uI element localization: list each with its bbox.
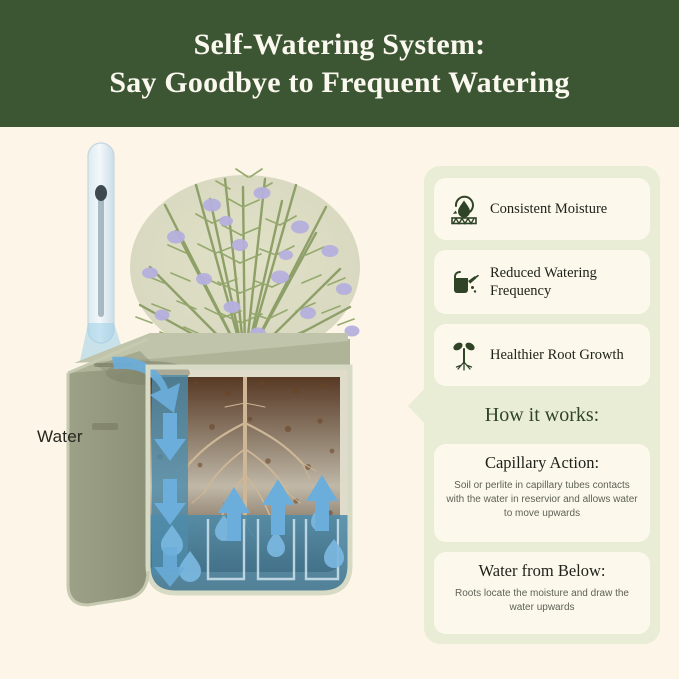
how-it-works-heading: How it works: xyxy=(434,404,650,427)
header-title-line-1: Self-Watering System: xyxy=(194,28,486,62)
water-drop-soil-icon xyxy=(444,189,484,229)
step-title: Capillary Action: xyxy=(446,453,638,473)
infographic-page: Self-Watering System: Say Goodbye to Fre… xyxy=(0,0,679,679)
step-body: Roots locate the moisture and draw the w… xyxy=(446,587,638,615)
water-label: Water xyxy=(37,427,83,447)
feature-card-reduced-watering[interactable]: Reduced Watering Frequency xyxy=(434,250,650,314)
panel-pointer-notch xyxy=(408,388,425,424)
feature-label: Reduced Watering Frequency xyxy=(484,264,640,300)
feature-card-healthier-root-growth[interactable]: Healthier Root Growth xyxy=(434,324,650,386)
planter-brand-mark xyxy=(92,423,118,430)
seedling-roots-icon xyxy=(444,335,484,375)
planter-cutaway-svg xyxy=(0,127,424,679)
feature-label: Healthier Root Growth xyxy=(484,346,624,364)
step-body: Soil or perlite in capillary tubes conta… xyxy=(446,479,638,522)
watering-can-icon xyxy=(444,262,484,302)
step-card-capillary-action[interactable]: Capillary Action: Soil or perlite in cap… xyxy=(434,444,650,542)
feature-label: Consistent Moisture xyxy=(484,200,607,218)
feature-card-consistent-moisture[interactable]: Consistent Moisture xyxy=(434,178,650,240)
step-title: Water from Below: xyxy=(446,561,638,581)
step-card-water-from-below[interactable]: Water from Below: Roots locate the moist… xyxy=(434,552,650,634)
water-level-gauge-float xyxy=(95,185,107,201)
planter-illustration: Water xyxy=(0,127,424,679)
header-banner: Self-Watering System: Say Goodbye to Fre… xyxy=(0,0,679,127)
header-title-line-2: Say Goodbye to Frequent Watering xyxy=(109,66,569,100)
